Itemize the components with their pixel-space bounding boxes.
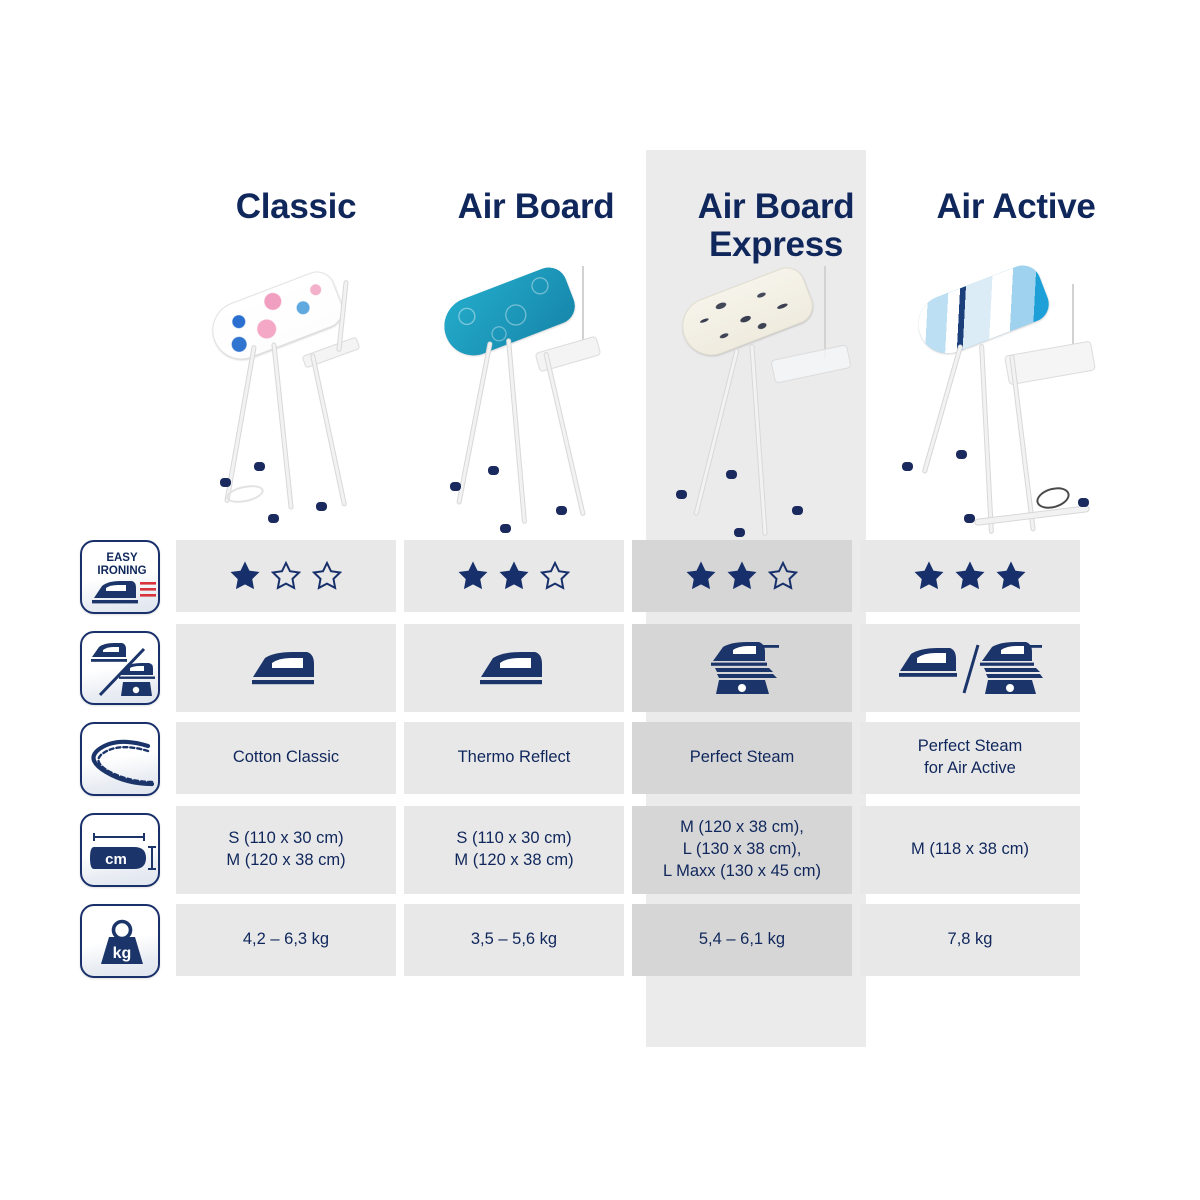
product-image-air-board — [416, 266, 656, 538]
rating-cell-classic — [176, 540, 396, 612]
comparison-table: EASY IRONING — [72, 540, 1136, 988]
dimensions-cm-icon: cm — [80, 813, 160, 887]
column-header-air-board-express: Air Board Express — [656, 186, 896, 274]
iron-icon — [249, 647, 323, 689]
cover-cell-classic: Cotton Classic — [176, 722, 396, 794]
table-row-iron-type — [72, 624, 1136, 712]
product-image-air-board-express — [656, 266, 896, 538]
column-header-classic: Classic — [176, 186, 416, 274]
dimensions-cell-air-board: S (110 x 30 cm) M (120 x 38 cm) — [404, 806, 624, 894]
ironing-board-illustration — [656, 266, 896, 538]
ironing-board-illustration — [896, 266, 1136, 538]
steam-generator-icon — [703, 639, 781, 697]
star-empty-icon — [768, 561, 798, 591]
star-filled-icon — [727, 561, 757, 591]
star-filled-icon — [230, 561, 260, 591]
star-rating — [458, 561, 570, 591]
svg-text:EASY: EASY — [106, 552, 138, 564]
column-header-air-active: Air Active — [896, 186, 1136, 274]
rating-cell-air-board — [404, 540, 624, 612]
dimensions-cell-classic: S (110 x 30 cm) M (120 x 38 cm) — [176, 806, 396, 894]
ironing-board-illustration — [416, 266, 656, 538]
row-icon-cell — [72, 624, 168, 712]
cover-cell-air-board-express: Perfect Steam — [632, 722, 852, 794]
cover-cell-air-active: Perfect Steam for Air Active — [860, 722, 1080, 794]
weight-kg-icon: kg — [80, 904, 160, 978]
product-images — [176, 266, 1136, 538]
weight-unit-label: kg — [113, 945, 132, 962]
iron-cell-air-active — [860, 624, 1080, 712]
column-header-air-board: Air Board — [416, 186, 656, 274]
svg-text:IRONING: IRONING — [97, 565, 146, 577]
star-rating — [686, 561, 798, 591]
product-image-air-active — [896, 266, 1136, 538]
iron-icon — [477, 647, 551, 689]
cover-cell-air-board: Thermo Reflect — [404, 722, 624, 794]
table-row-weight: kg 4,2 – 6,3 kg 3,5 – 5,6 kg 5,4 – 6,1 k… — [72, 904, 1136, 978]
star-rating — [230, 561, 342, 591]
product-comparison-page: Classic Air Board Air Board Express Air … — [0, 0, 1200, 1200]
star-empty-icon — [540, 561, 570, 591]
column-headers: Classic Air Board Air Board Express Air … — [176, 186, 1136, 274]
table-row-dimensions: cm S (110 x 30 cm) M (120 x 38 cm) S (11… — [72, 806, 1136, 894]
iron-cell-air-board — [404, 624, 624, 712]
weight-cell-classic: 4,2 – 6,3 kg — [176, 904, 396, 976]
iron-vs-steam-generator-icon — [80, 631, 160, 705]
weight-cell-air-active: 7,8 kg — [860, 904, 1080, 976]
star-filled-icon — [955, 561, 985, 591]
row-icon-cell: cm — [72, 806, 168, 894]
star-empty-icon — [271, 561, 301, 591]
rating-cell-air-board-express — [632, 540, 852, 612]
weight-cell-air-board: 3,5 – 5,6 kg — [404, 904, 624, 976]
star-filled-icon — [914, 561, 944, 591]
product-image-classic — [176, 266, 416, 538]
table-row-cover: Cotton Classic Thermo Reflect Perfect St… — [72, 722, 1136, 796]
iron-and-steam-generator-icon — [896, 639, 1044, 697]
easy-ironing-badge-icon: EASY IRONING — [80, 540, 160, 614]
iron-cell-air-board-express — [632, 624, 852, 712]
dimension-unit-label: cm — [105, 851, 127, 868]
star-filled-icon — [996, 561, 1026, 591]
row-icon-cell — [72, 722, 168, 796]
iron-cell-classic — [176, 624, 396, 712]
row-icon-cell: kg — [72, 904, 168, 978]
ironing-board-illustration — [176, 266, 416, 538]
star-filled-icon — [686, 561, 716, 591]
dimensions-cell-air-board-express: M (120 x 38 cm), L (130 x 38 cm), L Maxx… — [632, 806, 852, 894]
weight-cell-air-board-express: 5,4 – 6,1 kg — [632, 904, 852, 976]
star-filled-icon — [458, 561, 488, 591]
row-icon-cell: EASY IRONING — [72, 540, 168, 614]
dimensions-cell-air-active: M (118 x 38 cm) — [860, 806, 1080, 894]
ironing-board-cover-icon — [80, 722, 160, 796]
table-row-rating: EASY IRONING — [72, 540, 1136, 614]
star-filled-icon — [499, 561, 529, 591]
rating-cell-air-active — [860, 540, 1080, 612]
star-rating — [914, 561, 1026, 591]
star-empty-icon — [312, 561, 342, 591]
